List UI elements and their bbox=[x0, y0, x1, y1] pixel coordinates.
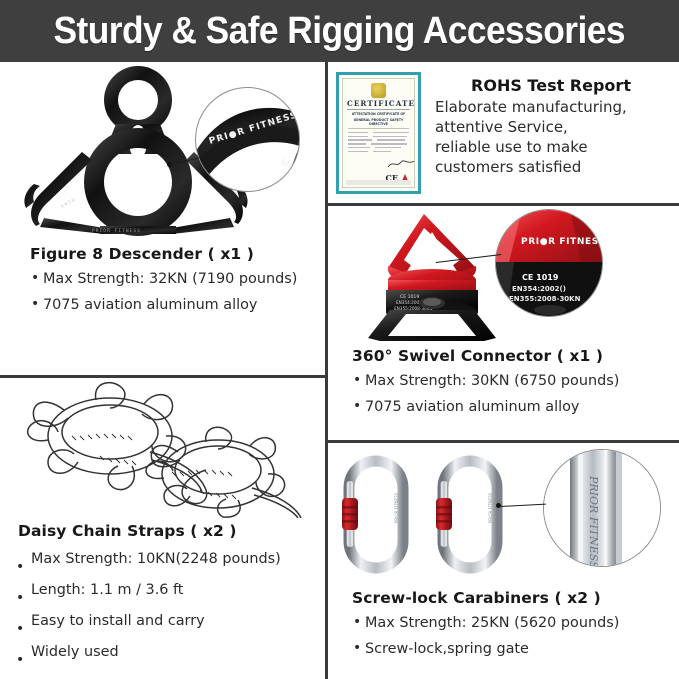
list-item: Max Strength: 25KN (5620 pounds) bbox=[352, 614, 665, 634]
certificate-footer-band bbox=[346, 180, 411, 185]
list-item: Max Strength: 32KN (7190 pounds) bbox=[30, 270, 309, 290]
certificate-signature-icon bbox=[387, 158, 415, 169]
panel-figure-8-descender: kN50 PRIOR FITNESS PRI●R bbox=[0, 62, 325, 375]
certificate-field-row bbox=[348, 147, 409, 148]
infographic-page: Sturdy & Safe Rigging Accessories bbox=[0, 0, 679, 679]
daisy-chain-image bbox=[0, 378, 325, 518]
figure-8-callout-detail: PRI●R FITNESS kN50 bbox=[196, 88, 300, 192]
figure-8-title: Figure 8 Descender ( x1 ) bbox=[30, 245, 309, 263]
swivel-callout-circle: PRI●R FITNESS CE 1019 EN354:2002() EN355… bbox=[495, 209, 603, 317]
certificate-seal-icon bbox=[371, 83, 386, 98]
carabiner-callout-circle: PRIOR FITNESS bbox=[543, 449, 661, 567]
list-item: Easy to install and carry bbox=[14, 612, 311, 632]
daisy-chain-title: Daisy Chain Straps ( x2 ) bbox=[14, 522, 311, 540]
list-item: Max Strength: 10KN(2248 pounds) bbox=[14, 550, 311, 570]
certificate-field-row bbox=[348, 139, 409, 140]
carabiner-callout-detail: PRIOR FITNESS bbox=[544, 450, 661, 567]
carabiner-1: PRIOR FITNESS bbox=[342, 461, 403, 568]
swivel-cert-line-2: EN354:2002() bbox=[512, 285, 566, 293]
certificate-field-row bbox=[348, 143, 409, 144]
panel-rohs-test-report: CERTIFICATE ATTESTATION CERTIFICATE OF G… bbox=[328, 62, 679, 203]
carabiner-title: Screw-lock Carabiners ( x2 ) bbox=[352, 589, 665, 607]
swivel-cert-line-3: EN355:2008-30KN bbox=[509, 295, 581, 303]
carabiner-2-engraving: PRIOR FITNESS bbox=[488, 492, 493, 523]
rohs-body-line: reliable use to make bbox=[435, 138, 667, 158]
daisy-chain-straps-icon bbox=[0, 378, 325, 518]
panel-swivel-connector: CE 1019 EN354:2002() EN355:2008-30KN bbox=[328, 206, 679, 440]
list-item: Screw-lock,spring gate bbox=[352, 640, 665, 660]
figure-8-bullets: Max Strength: 32KN (7190 pounds) 7075 av… bbox=[30, 270, 309, 316]
swivel-brand-text: PRI●R FITNESS bbox=[521, 237, 603, 247]
list-item: Max Strength: 30KN (6750 pounds) bbox=[352, 372, 665, 392]
header-bar: Sturdy & Safe Rigging Accessories bbox=[0, 0, 679, 62]
certificate-field-row bbox=[348, 132, 409, 133]
certificate-image: CERTIFICATE ATTESTATION CERTIFICATE OF G… bbox=[336, 72, 421, 194]
rohs-body-line: attentive Service, bbox=[435, 118, 667, 138]
panel-daisy-chain-straps: Daisy Chain Straps ( x2 ) Max Strength: … bbox=[0, 378, 325, 679]
swivel-image: CE 1019 EN354:2002() EN355:2008-30KN bbox=[328, 206, 679, 341]
figure-8-image: kN50 PRIOR FITNESS PRI●R bbox=[0, 62, 325, 237]
swivel-title: 360° Swivel Connector ( x1 ) bbox=[352, 347, 665, 365]
list-item: Widely used bbox=[14, 643, 311, 663]
certificate-heading: CERTIFICATE bbox=[347, 99, 410, 110]
carabiner-image: PRIOR FITNESS PRIOR FITNESS bbox=[328, 443, 679, 583]
carabiner-bullets: Max Strength: 25KN (5620 pounds) Screw-l… bbox=[352, 614, 665, 660]
certificate-field-row bbox=[348, 136, 409, 137]
certificate-field-row bbox=[348, 151, 409, 152]
carabiner-2: PRIOR FITNESS bbox=[436, 461, 497, 568]
list-item: Length: 1.1 m / 3.6 ft bbox=[14, 581, 311, 601]
certificate-subheading-2: GENERAL PRODUCT SAFETY DIRECTIVE bbox=[347, 118, 410, 127]
list-item: 7075 aviation aluminum alloy bbox=[30, 296, 309, 316]
rohs-body-line: Elaborate manufacturing, bbox=[435, 98, 667, 118]
swivel-callout-detail: PRI●R FITNESS CE 1019 EN354:2002() EN355… bbox=[496, 210, 603, 317]
daisy-chain-bullets: Max Strength: 10KN(2248 pounds) Length: … bbox=[14, 550, 311, 663]
swivel-cert-line-1: CE 1019 bbox=[522, 273, 559, 282]
carabiner-1-engraving: PRIOR FITNESS bbox=[394, 492, 399, 523]
swivel-bullets: Max Strength: 30KN (6750 pounds) 7075 av… bbox=[352, 372, 665, 418]
carabiner-engraving-text: PRIOR FITNESS bbox=[587, 475, 600, 567]
figure8-body-mark: PRIOR FITNESS bbox=[92, 228, 141, 234]
page-title: Sturdy & Safe Rigging Accessories bbox=[54, 10, 625, 53]
rohs-title: ROHS Test Report bbox=[435, 76, 667, 95]
figure-8-callout-circle: PRI●R FITNESS kN50 bbox=[195, 87, 300, 192]
list-item: 7075 aviation aluminum alloy bbox=[352, 398, 665, 418]
certificate-rule bbox=[348, 128, 409, 129]
certificate-subheading-1: ATTESTATION CERTIFICATE OF bbox=[347, 112, 410, 116]
panel-screw-lock-carabiners: PRIOR FITNESS PRIOR FITNESS bbox=[328, 443, 679, 679]
rohs-body: Elaborate manufacturing, attentive Servi… bbox=[435, 98, 667, 178]
rohs-body-line: customers satisfied bbox=[435, 158, 667, 178]
figure8-small-mark: kN50 bbox=[60, 197, 77, 210]
